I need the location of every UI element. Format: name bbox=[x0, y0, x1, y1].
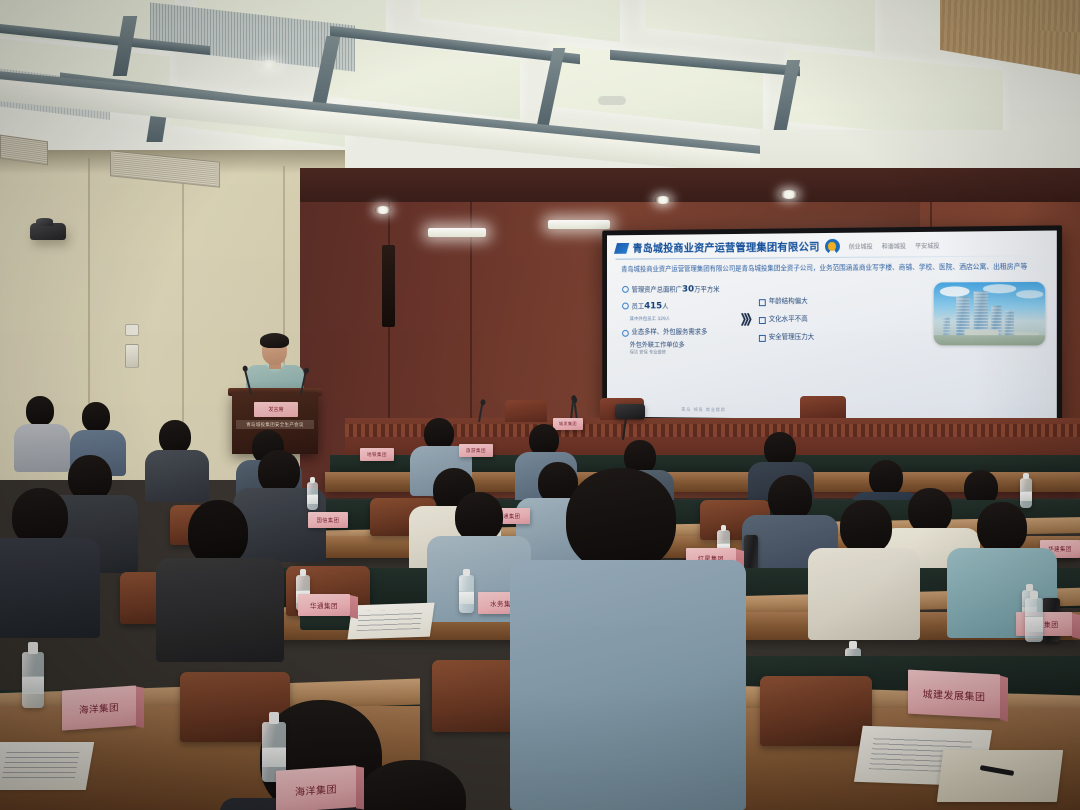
desk-namecard: 旅游集团 bbox=[459, 444, 493, 457]
bullet-text: 文化水平不高 bbox=[769, 315, 808, 324]
person-head bbox=[764, 432, 796, 466]
person-torso bbox=[0, 538, 100, 638]
desk-namecard: 海洋集团 bbox=[62, 685, 136, 730]
slogan-2: 和谐城投 bbox=[882, 241, 906, 250]
circle-bullet-icon bbox=[622, 285, 629, 292]
person-head bbox=[869, 460, 903, 496]
projection-screen: 青岛城投商业资产运营管理集团有限公司 创业城投 和谐城投 平安城投 青岛城投商业… bbox=[607, 230, 1057, 421]
slide-body: 管理资产总面积广30万平方米 员工415人 其中外包员工 329人 业态多样、外… bbox=[615, 281, 1047, 356]
person-torso bbox=[145, 450, 209, 502]
video-camera-on-tripod bbox=[615, 404, 645, 419]
light-switch-plate[interactable] bbox=[125, 344, 139, 368]
water-bottle bbox=[1025, 598, 1043, 642]
namecard-text: 海洋集团 bbox=[79, 700, 119, 717]
slide-picture-column bbox=[854, 281, 1047, 356]
slide-bullet: 安全管理压力大 bbox=[759, 333, 854, 342]
triple-chevron-arrow-icon bbox=[743, 313, 752, 326]
document-paper bbox=[0, 742, 94, 790]
desk-namecard: 国信集团 bbox=[308, 512, 348, 528]
stage-namecard: 城发集团 bbox=[553, 418, 583, 430]
square-bullet-icon bbox=[759, 317, 766, 324]
person-torso bbox=[14, 424, 70, 472]
namecard-text: 海洋集团 bbox=[295, 780, 337, 798]
bullet-prefix: 员工 bbox=[632, 303, 645, 311]
circle-bullet-icon bbox=[622, 303, 629, 310]
bullet-text: 员工415人 bbox=[632, 301, 669, 313]
bullet-subtext: 外包外联工作单位多 bbox=[630, 340, 736, 349]
cityscape-photo bbox=[934, 281, 1046, 345]
podium-band-text: 青岛城投集团安全生产会议 bbox=[246, 422, 304, 428]
namecard-text: 华通集团 bbox=[310, 600, 338, 610]
podium-band: 青岛城投集团安全生产会议 bbox=[236, 420, 314, 429]
person-torso bbox=[808, 548, 920, 640]
ceiling-downlight bbox=[258, 60, 280, 70]
slogan-group: 创业城投 和谐城投 平安城投 bbox=[849, 241, 940, 251]
thermos-cup bbox=[744, 535, 758, 571]
ceiling-speaker bbox=[598, 96, 626, 105]
namecard-text: 城发集团 bbox=[559, 421, 577, 427]
slide-header: 青岛城投商业资产运营管理集团有限公司 创业城投 和谐城投 平安城投 bbox=[615, 237, 1047, 256]
slide-bullet: 员工415人 bbox=[622, 300, 735, 313]
namecard-text: 城建发展集团 bbox=[923, 685, 986, 703]
soffit-light bbox=[548, 220, 610, 229]
square-bullet-icon bbox=[759, 335, 766, 342]
bullet-number: 30 bbox=[682, 284, 694, 294]
wood-ceiling-strip bbox=[1040, 0, 1080, 34]
slide-bullet: 业态多样、外包服务需求多 bbox=[622, 328, 735, 337]
person-head bbox=[188, 500, 248, 566]
slide-left-column: 管理资产总面积广30万平方米 员工415人 其中外包员工 329人 业态多样、外… bbox=[615, 283, 735, 356]
conference-hall-photo: 青岛城投商业资产运营管理集团有限公司 创业城投 和谐城投 平安城投 青岛城投商业… bbox=[0, 0, 1080, 810]
chair-back bbox=[760, 676, 872, 746]
desk-namecard: 地铁集团 bbox=[360, 448, 394, 461]
stage-soffit bbox=[300, 168, 1080, 202]
bullet-suffix: 万平方米 bbox=[694, 285, 720, 293]
water-bottle bbox=[307, 482, 318, 510]
circle-bullet-icon bbox=[622, 330, 629, 337]
slide-title: 青岛城投商业资产运营管理集团有限公司 bbox=[633, 239, 820, 256]
water-bottle bbox=[459, 575, 474, 613]
person-head bbox=[840, 500, 892, 554]
desk-namecard: 海洋集团 bbox=[276, 765, 356, 810]
desk-namecard: 城建发展集团 bbox=[908, 670, 1000, 719]
ptz-camera bbox=[30, 223, 66, 240]
stage-table-carving bbox=[345, 424, 1080, 437]
soffit-light bbox=[428, 228, 486, 237]
water-bottle bbox=[22, 652, 44, 708]
title-divider bbox=[615, 255, 1047, 259]
ceiling-downlight bbox=[780, 190, 798, 199]
slide-arrow-column bbox=[735, 283, 758, 356]
bullet-prefix: 管理资产总面积广 bbox=[632, 285, 682, 293]
namecard-text: 国信集团 bbox=[317, 517, 340, 524]
speaker-hair bbox=[260, 333, 289, 348]
namecard-text: 旅游集团 bbox=[466, 448, 486, 454]
bullet-suffix: 人 bbox=[662, 303, 668, 311]
person-torso bbox=[156, 558, 284, 662]
slide-bullet: 文化水平不高 bbox=[759, 315, 854, 324]
namecard-text: 地铁集团 bbox=[367, 452, 387, 458]
podium-nameplate: 发言席 bbox=[254, 402, 298, 417]
presentation-slide: 青岛城投商业资产运营管理集团有限公司 创业城投 和谐城投 平安城投 青岛城投商业… bbox=[607, 230, 1057, 421]
ceiling-downlight bbox=[375, 206, 391, 214]
person-head bbox=[977, 502, 1027, 554]
bullet-subtext-small: 保洁 安保 专业维修 bbox=[630, 349, 736, 355]
notebook bbox=[937, 750, 1063, 802]
person-torso bbox=[510, 560, 746, 810]
wall-seam bbox=[182, 162, 184, 462]
desk-namecard: 华通集团 bbox=[298, 594, 350, 616]
water-bottle bbox=[1020, 478, 1032, 508]
person-head bbox=[566, 468, 676, 572]
slogan-3: 平安城投 bbox=[915, 241, 939, 250]
person-head bbox=[82, 402, 110, 432]
person-head bbox=[455, 492, 503, 542]
thermostat[interactable] bbox=[125, 324, 139, 336]
bullet-text: 安全管理压力大 bbox=[769, 333, 815, 342]
slogan-1: 创业城投 bbox=[849, 242, 873, 251]
bullet-number: 415 bbox=[644, 302, 662, 312]
bullet-text: 年龄结构偏大 bbox=[769, 297, 808, 306]
person-head bbox=[159, 420, 191, 454]
slide-footer: 青岛 城投 商业楼群 bbox=[681, 407, 726, 413]
square-bullet-icon bbox=[759, 299, 766, 306]
stage-chair bbox=[800, 396, 846, 418]
chengtou-c-logo-icon bbox=[825, 239, 840, 254]
parallelogram-accent-icon bbox=[614, 243, 629, 254]
person-head bbox=[26, 396, 54, 426]
podium-nameplate-text: 发言席 bbox=[268, 406, 283, 413]
wall-speaker-box bbox=[382, 245, 395, 327]
bullet-text: 业态多样、外包服务需求多 bbox=[632, 328, 708, 337]
slide-bullet: 管理资产总面积广30万平方米 bbox=[622, 283, 735, 296]
document-paper bbox=[347, 603, 434, 640]
ceiling-downlight bbox=[655, 196, 671, 204]
slide-bullet: 年龄结构偏大 bbox=[759, 296, 854, 305]
bullet-subtext: 其中外包员工 329人 bbox=[630, 316, 736, 322]
slide-paragraph: 青岛城投商业资产运营管理集团有限公司是青岛城投集团全资子公司，业务范围涵盖商业写… bbox=[615, 261, 1047, 275]
bullet-text: 管理资产总面积广30万平方米 bbox=[632, 283, 720, 296]
stage-chair bbox=[505, 400, 547, 422]
slide-right-column: 年龄结构偏大 文化水平不高 安全管理压力大 bbox=[759, 282, 854, 356]
